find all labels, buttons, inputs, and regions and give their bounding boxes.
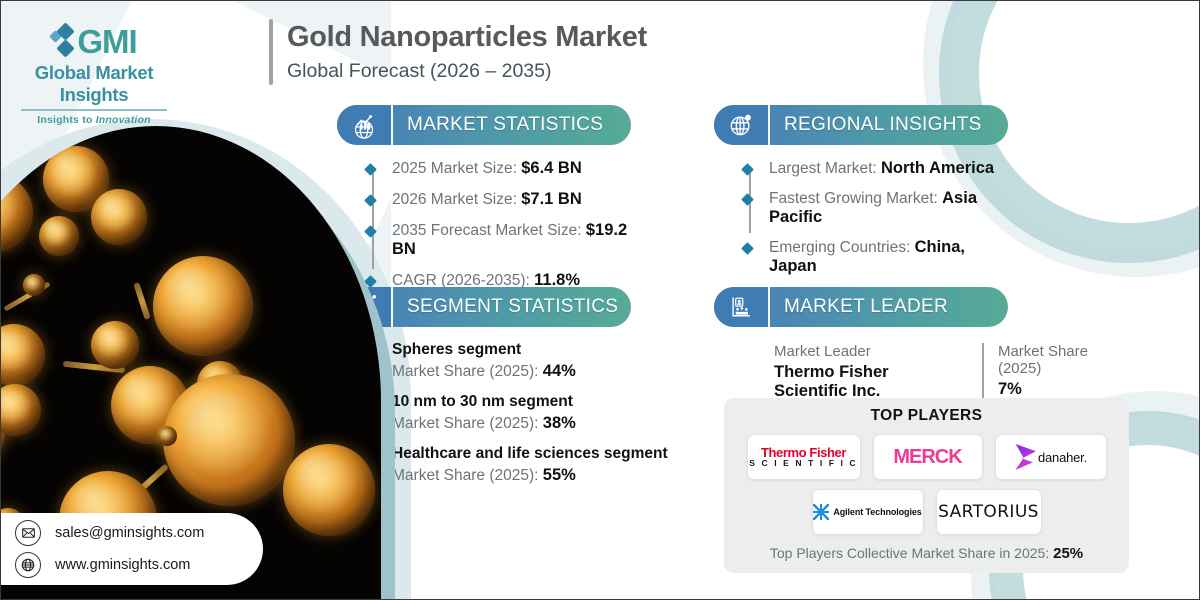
- item-label: Market Share (2025):: [392, 467, 543, 484]
- top-players-row-1: Thermo Fisher S C I E N T I F I C MERCK …: [724, 434, 1129, 480]
- list-item: 10 nm to 30 nm segment Market Share (202…: [392, 393, 697, 433]
- thermo-fisher-line1: Thermo Fisher: [749, 446, 857, 460]
- globe-icon: [15, 552, 41, 578]
- list-item: Healthcare and life sciences segment Mar…: [392, 445, 697, 485]
- regional-insights-heading: REGIONAL INSIGHTS: [770, 114, 982, 136]
- list-item: 2035 Forecast Market Size: $19.2 BN: [392, 221, 637, 259]
- item-label: Largest Market:: [769, 160, 881, 177]
- top-players-row-2: Agilent Technologies SARTORIUS: [724, 489, 1129, 535]
- market-leader-info: Market Leader Thermo Fisher Scientific I…: [774, 343, 982, 401]
- list-item: 2026 Market Size: $7.1 BN: [392, 190, 637, 209]
- pill-divider: [768, 287, 770, 327]
- item-value: 44%: [543, 362, 576, 380]
- section-regional-insights: REGIONAL INSIGHTS Largest Market: North …: [714, 105, 1014, 276]
- top-players-title: TOP PLAYERS: [724, 398, 1129, 425]
- bullet-icon: [741, 163, 754, 176]
- item-label: Fastest Growing Market:: [769, 190, 942, 207]
- merck-wordmark: MERCK: [893, 446, 961, 469]
- item-label: 2026 Market Size:: [392, 191, 521, 208]
- logo-abbr: GMI: [77, 25, 136, 59]
- market-leader-divider: [982, 343, 984, 401]
- bullet-icon: [364, 225, 377, 238]
- section-market-statistics: MARKET STATISTICS 2025 Market Size: $6.4…: [337, 105, 637, 290]
- market-leader-name: Thermo Fisher Scientific Inc.: [774, 363, 964, 401]
- player-logo-danaher[interactable]: danaher.: [995, 434, 1107, 480]
- agilent-starburst-icon: [813, 504, 829, 520]
- title-accent-bar: [269, 19, 273, 85]
- podium-icon: [714, 287, 768, 327]
- market-statistics-header: MARKET STATISTICS: [337, 105, 631, 145]
- item-label: 2025 Market Size:: [392, 160, 521, 177]
- logo-tagline-part1: Insights to: [37, 114, 95, 126]
- item-label: 2035 Forecast Market Size:: [392, 222, 586, 239]
- item-label: Market Share (2025):: [392, 363, 543, 380]
- contact-email[interactable]: sales@gminsights.com: [55, 525, 204, 541]
- contact-footer: sales@gminsights.com www.gminsights.com: [0, 513, 263, 585]
- player-logo-agilent[interactable]: Agilent Technologies: [812, 489, 924, 535]
- item-label: Emerging Countries:: [769, 239, 915, 256]
- danaher-wordmark: danaher.: [1038, 450, 1087, 465]
- market-leader-caption: Market Leader: [774, 343, 964, 360]
- item-value: North America: [881, 159, 994, 177]
- pill-divider: [391, 287, 393, 327]
- page-title-block: Gold Nanoparticles Market Global Forecas…: [269, 19, 647, 85]
- top-players-footer: Top Players Collective Market Share in 2…: [724, 545, 1129, 562]
- item-value: 55%: [543, 466, 576, 484]
- logo-divider: [21, 109, 167, 111]
- contact-website-row[interactable]: www.gminsights.com: [15, 552, 263, 578]
- item-value: $6.4 BN: [521, 159, 582, 177]
- segment-name: 10 nm to 30 nm segment: [392, 393, 697, 411]
- pill-divider: [768, 105, 770, 145]
- player-logo-thermo-fisher[interactable]: Thermo Fisher S C I E N T I F I C: [747, 434, 861, 480]
- list-item: Spheres segment Market Share (2025): 44%: [392, 341, 697, 381]
- gmi-diamonds-icon: [51, 23, 75, 61]
- item-value: $7.1 BN: [521, 190, 582, 208]
- market-statistics-list: 2025 Market Size: $6.4 BN 2026 Market Si…: [362, 159, 637, 290]
- segment-statistics-heading: SEGMENT STATISTICS: [393, 296, 618, 318]
- item-label: Market Share (2025):: [392, 415, 543, 432]
- globe-pin-icon: [714, 105, 768, 145]
- page-title: Gold Nanoparticles Market: [287, 19, 647, 55]
- danaher-mark-icon: [1014, 444, 1036, 470]
- section-market-leader: MARKET LEADER Market Leader Thermo Fishe…: [714, 287, 1114, 401]
- player-logo-merck[interactable]: MERCK: [873, 434, 983, 480]
- player-logo-sartorius[interactable]: SARTORIUS: [936, 489, 1042, 535]
- regional-insights-list: Largest Market: North America Fastest Gr…: [739, 159, 1014, 276]
- market-share-value: 7%: [998, 380, 1114, 399]
- item-value: 38%: [543, 414, 576, 432]
- market-share-caption: Market Share (2025): [998, 343, 1114, 377]
- segment-statistics-list: Spheres segment Market Share (2025): 44%…: [362, 341, 697, 485]
- pill-divider: [391, 105, 393, 145]
- infographic-canvas: GMI Global Market Insights Insights to I…: [0, 0, 1200, 600]
- gmi-logo[interactable]: GMI Global Market Insights Insights to I…: [13, 23, 175, 126]
- bullet-icon: [364, 163, 377, 176]
- globe-chart-icon: [337, 105, 391, 145]
- list-item: 2025 Market Size: $6.4 BN: [392, 159, 637, 178]
- list-item: Emerging Countries: China, Japan: [769, 238, 1014, 276]
- top-players-panel: TOP PLAYERS Thermo Fisher S C I E N T I …: [724, 398, 1129, 573]
- logo-tagline-part2: Innovation: [96, 114, 151, 126]
- regional-insights-header: REGIONAL INSIGHTS: [714, 105, 1008, 145]
- contact-email-row[interactable]: sales@gminsights.com: [15, 520, 263, 546]
- page-subtitle: Global Forecast (2026 – 2035): [287, 57, 647, 85]
- envelope-icon: [15, 520, 41, 546]
- thermo-fisher-line2: S C I E N T I F I C: [749, 459, 857, 468]
- market-leader-header: MARKET LEADER: [714, 287, 1008, 327]
- segment-name: Spheres segment: [392, 341, 697, 359]
- market-leader-body: Market Leader Thermo Fisher Scientific I…: [714, 343, 1114, 401]
- segment-name: Healthcare and life sciences segment: [392, 445, 697, 463]
- bullet-icon: [741, 242, 754, 255]
- market-leader-heading: MARKET LEADER: [770, 296, 948, 318]
- list-connector-line: [372, 169, 374, 269]
- list-item: Largest Market: North America: [769, 159, 1014, 178]
- market-share-info: Market Share (2025) 7%: [998, 343, 1114, 401]
- bullet-icon: [741, 193, 754, 206]
- sartorius-wordmark: SARTORIUS: [938, 502, 1039, 522]
- logo-top-row: GMI: [13, 23, 175, 61]
- logo-company-name: Global Market Insights: [13, 62, 175, 106]
- bullet-icon: [364, 194, 377, 207]
- market-statistics-heading: MARKET STATISTICS: [393, 114, 603, 136]
- top-players-footer-value: 25%: [1053, 545, 1083, 562]
- list-item: Fastest Growing Market: Asia Pacific: [769, 189, 1014, 227]
- logo-tagline: Insights to Innovation: [13, 114, 175, 126]
- top-players-footer-label: Top Players Collective Market Share in 2…: [770, 545, 1053, 561]
- contact-website[interactable]: www.gminsights.com: [55, 557, 190, 573]
- agilent-wordmark: Agilent Technologies: [833, 507, 921, 517]
